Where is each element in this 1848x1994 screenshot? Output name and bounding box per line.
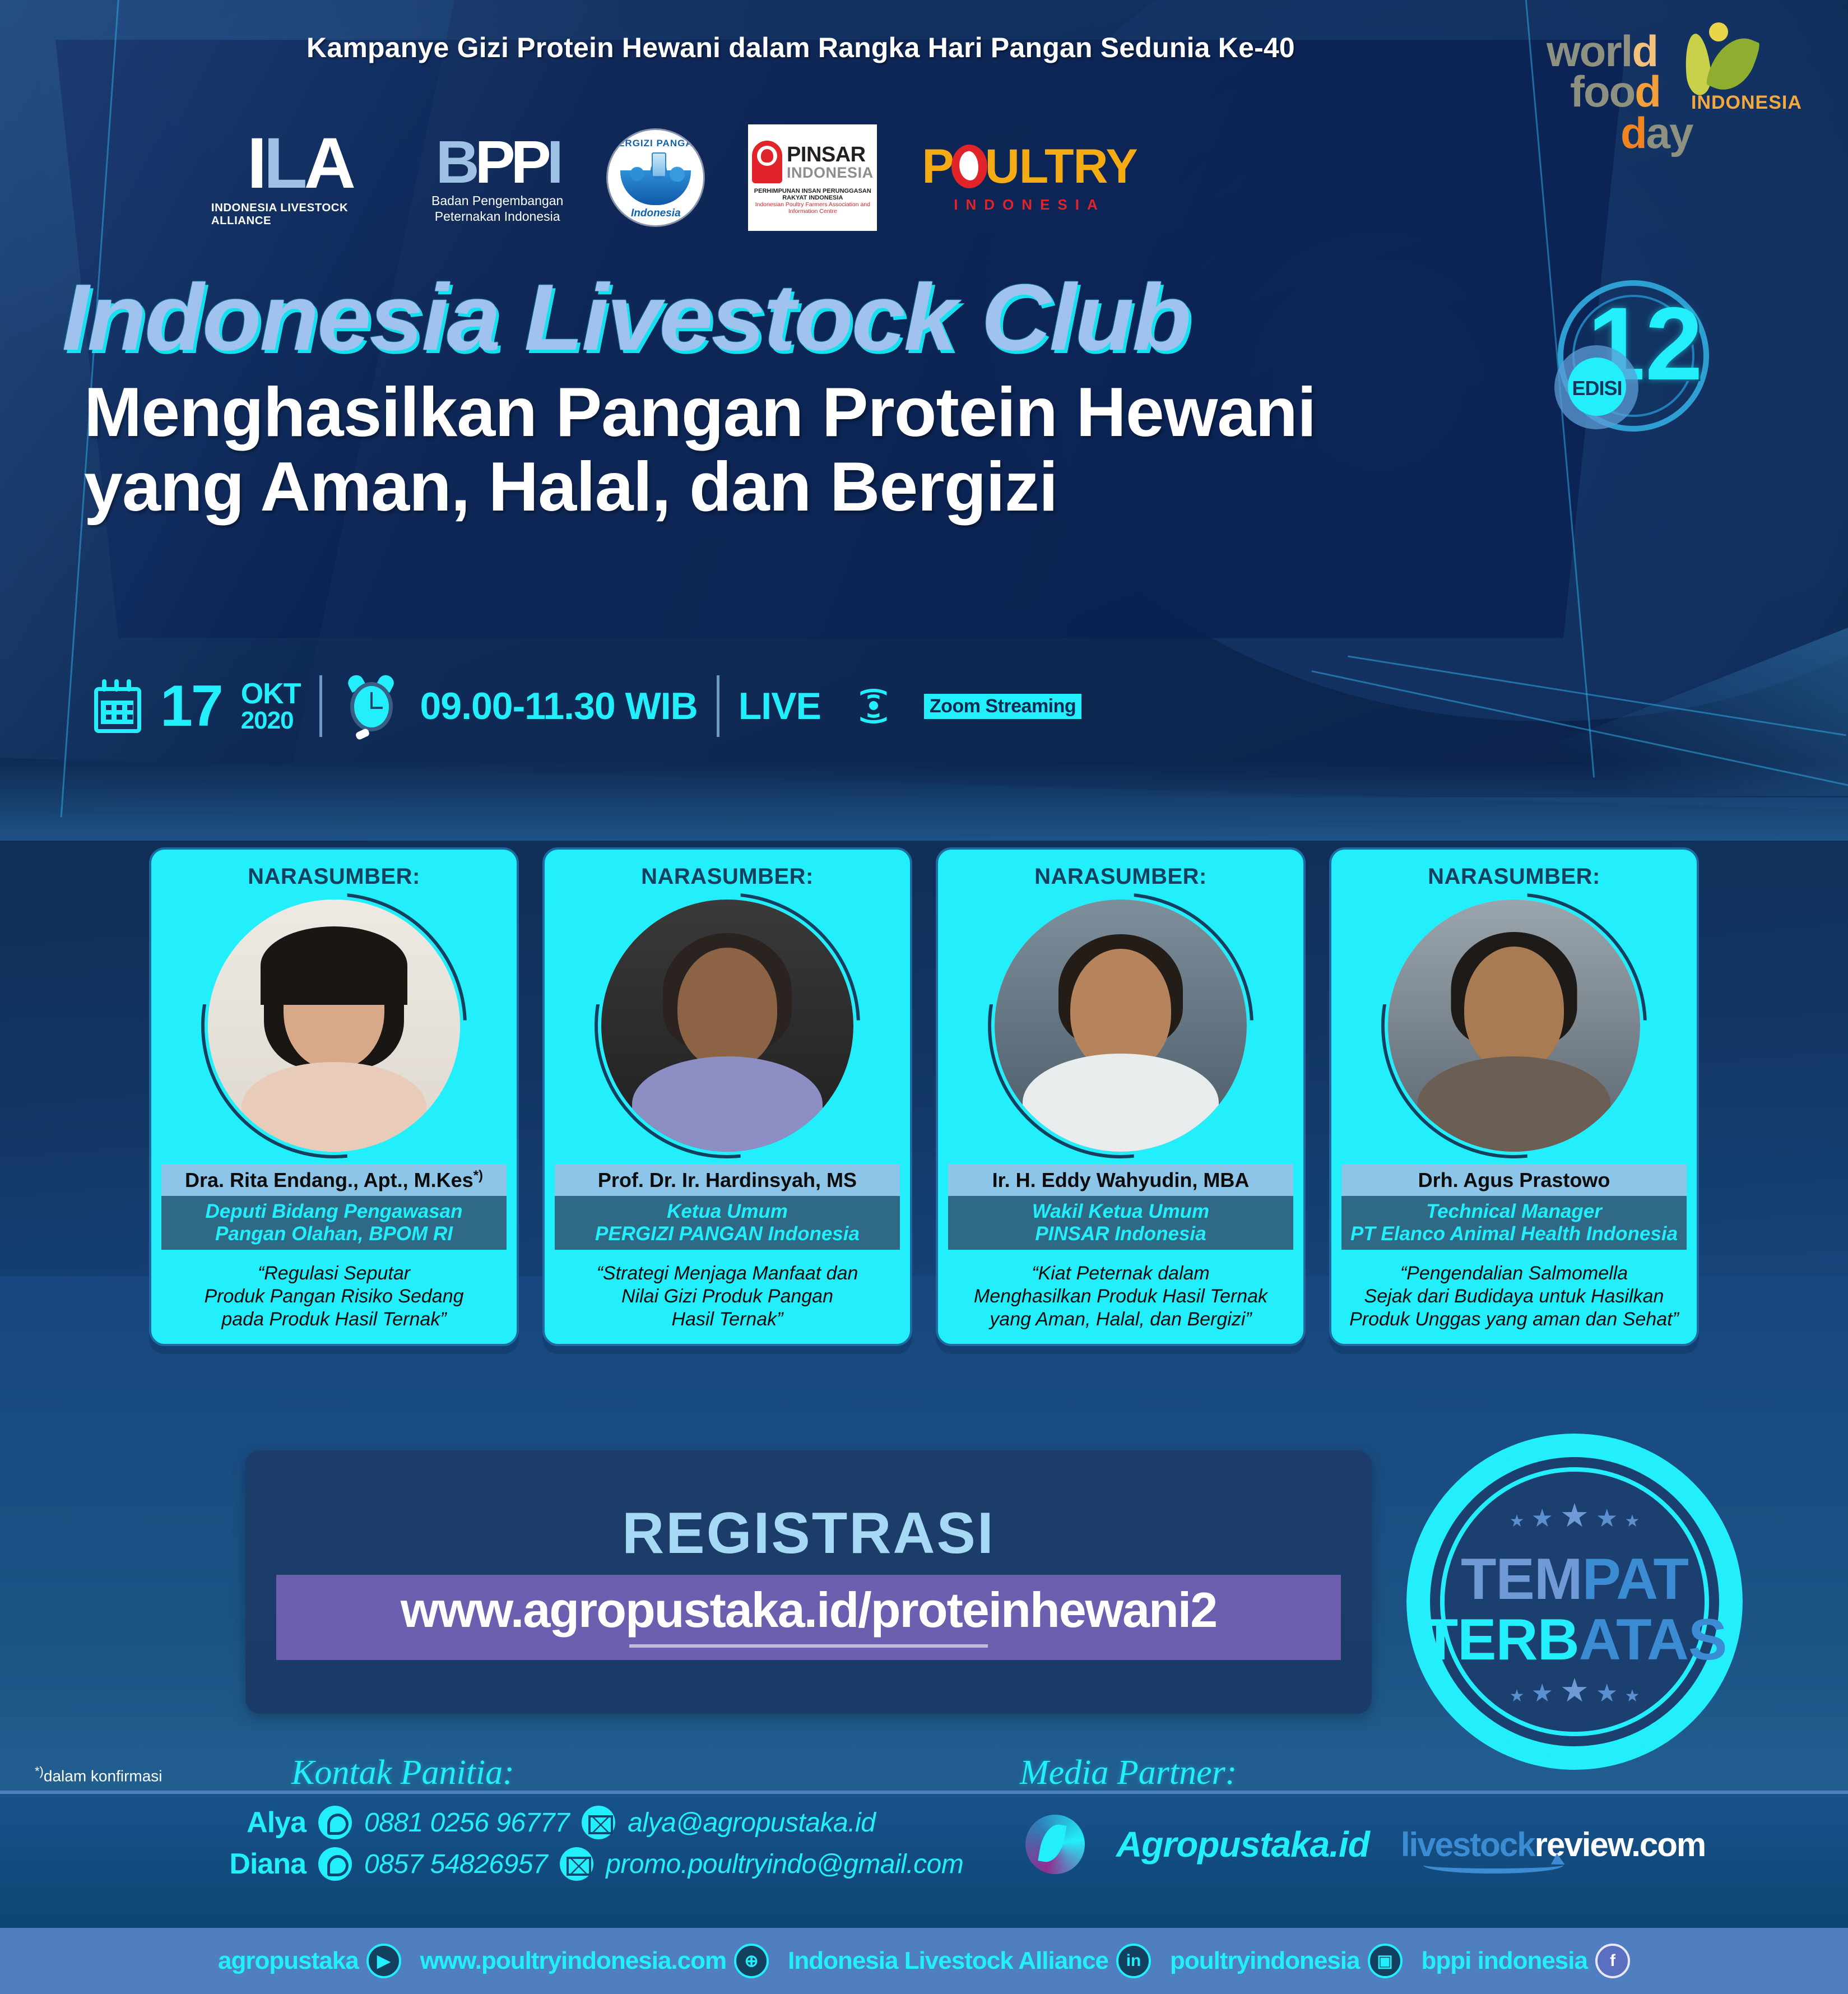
speaker-section-label: NARASUMBER:	[1428, 864, 1600, 889]
speaker-name-text: Dra. Rita Endang., Apt., M.Kes	[185, 1168, 473, 1191]
poultry-chicken-icon	[951, 145, 987, 188]
speaker-role-line1: Deputi Bidang Pengawasan	[165, 1200, 503, 1223]
pinsar-row: PINSAR INDONESIA	[752, 141, 874, 183]
poultry-letters-rest: ULTRY	[985, 142, 1137, 191]
footnote: *)dalam konfirmasi	[35, 1764, 162, 1785]
speaker-topic-line2: Menghasilkan Produk Hasil Ternak	[974, 1285, 1267, 1308]
contact-heading: Kontak Panitia:	[291, 1753, 514, 1793]
footnote-asterisk: *)	[35, 1764, 44, 1778]
wfd-country-label: INDONESIA	[1691, 92, 1802, 114]
speaker-topic-line2: Produk Pangan Risiko Sedang	[204, 1285, 463, 1308]
ila-mark: ILA	[247, 128, 352, 200]
speaker-topic-line2: Sejak dari Budidaya untuk Hasilkan	[1349, 1285, 1679, 1308]
speaker-card-list: NARASUMBER: Dra. Rita Endang., Apt., M.K…	[0, 847, 1848, 1346]
poultry-subtitle: INDONESIA	[954, 196, 1105, 214]
email-icon[interactable]	[560, 1847, 593, 1881]
speaker-topic-line1: “Pengendalian Salmomella	[1349, 1262, 1679, 1285]
avatar	[208, 899, 460, 1152]
partner-logo-strip: ILA INDONESIA LIVESTOCK ALLIANCE BPPI Ba…	[213, 124, 1137, 231]
pergizi-rim-bottom: Indonesia	[608, 207, 703, 220]
media-partner-heading: Media Partner:	[1020, 1753, 1237, 1793]
speaker-topic-line3: pada Produk Hasil Ternak”	[204, 1308, 463, 1331]
social-item-poultryindonesia-web[interactable]: www.poultryindonesia.com ⊕	[420, 1944, 769, 1978]
badge-line1-part2: PAT	[1582, 1547, 1688, 1612]
bppi-subtitle-line2: Peternakan Indonesia	[435, 209, 560, 224]
footnote-text: dalam konfirmasi	[44, 1767, 162, 1784]
media-partner-logos: Agropustaka.id livestockreview.com	[1025, 1815, 1705, 1874]
speaker-topic: “Regulasi Seputar Produk Pangan Risiko S…	[201, 1262, 467, 1330]
speaker-card[interactable]: NARASUMBER: Dra. Rita Endang., Apt., M.K…	[149, 847, 519, 1346]
badge-line2-part2: ATAS	[1579, 1607, 1727, 1672]
speaker-role-line1: Wakil Ketua Umum	[951, 1200, 1290, 1223]
bppi-subtitle-line1: Badan Pengembangan	[431, 193, 563, 208]
pinsar-tagline-id: PERHIMPUNAN INSAN PERUNGGASAN RAKYAT IND…	[753, 188, 872, 201]
social-item-poultryindonesia-ig[interactable]: poultryindonesia ▣	[1170, 1944, 1402, 1978]
event-year: 2020	[241, 708, 301, 733]
speaker-section-label: NARASUMBER:	[641, 864, 814, 889]
speaker-role-line2: Pangan Olahan, BPOM RI	[165, 1223, 503, 1245]
broadcast-icon	[840, 689, 905, 724]
speaker-role-line2: PINSAR Indonesia	[951, 1223, 1290, 1245]
event-month-year: OKT 2020	[241, 679, 301, 733]
pergizi-seal: PERGIZI PANGAN Indonesia	[608, 130, 703, 225]
background-wave	[0, 762, 1848, 841]
world-food-day-logo: world food day INDONESIA	[1535, 13, 1787, 198]
event-details-bar: 17 OKT 2020 09.00-11.30 WIB LIVE Zoom St…	[94, 675, 1081, 737]
contact-email: promo.poultryindo@gmail.com	[606, 1849, 963, 1880]
bppi-mark: BPPI	[436, 132, 559, 192]
speaker-role: Wakil Ketua Umum PINSAR Indonesia	[948, 1196, 1293, 1250]
badge-line1-part1: TEM	[1461, 1547, 1582, 1612]
speaker-name: Drh. Agus Prastowo	[1341, 1164, 1687, 1196]
social-label: agropustaka	[218, 1947, 359, 1975]
speaker-topic: “Pengendalian Salmomella Sejak dari Budi…	[1346, 1262, 1682, 1330]
speaker-role-line2: PERGIZI PANGAN Indonesia	[558, 1223, 897, 1245]
contact-phone: 0881 0256 96777	[364, 1807, 569, 1838]
speaker-role: Deputi Bidang Pengawasan Pangan Olahan, …	[161, 1196, 507, 1250]
ila-subtitle: INDONESIA LIVESTOCK ALLIANCE	[211, 202, 388, 228]
pinsar-name-a: PINSAR	[787, 143, 866, 166]
speaker-card[interactable]: NARASUMBER: Drh. Agus Prastowo Technical…	[1329, 847, 1699, 1346]
email-icon[interactable]	[582, 1806, 615, 1839]
speaker-topic-line1: “Regulasi Seputar	[204, 1262, 463, 1285]
speaker-role: Ketua Umum PERGIZI PANGAN Indonesia	[555, 1196, 900, 1250]
agropustaka-wordmark: Agropustaka.id	[1116, 1824, 1369, 1865]
page-title: Indonesia Livestock Club	[62, 263, 1190, 372]
speaker-role-line1: Technical Manager	[1345, 1200, 1683, 1223]
speaker-role: Technical Manager PT Elanco Animal Healt…	[1341, 1196, 1687, 1250]
leaf-yellow-icon	[1683, 33, 1712, 96]
speaker-topic-line1: “Strategi Menjaga Manfaat dan	[597, 1262, 858, 1285]
speaker-role-line2: PT Elanco Animal Health Indonesia	[1345, 1223, 1683, 1245]
registration-underline	[629, 1644, 988, 1648]
speaker-role-line1: Ketua Umum	[558, 1200, 897, 1223]
pergizi-glass-icon	[652, 152, 666, 177]
badge-line-1: TEMPAT	[1406, 1550, 1743, 1608]
instagram-icon[interactable]: ▣	[1368, 1944, 1403, 1978]
badge-line2-part1: TERB	[1423, 1607, 1579, 1672]
speaker-name-text: Ir. H. Eddy Wahyudin, MBA	[992, 1168, 1250, 1191]
speaker-topic-line3: Hasil Ternak”	[597, 1308, 858, 1331]
event-day: 17	[160, 677, 222, 735]
avatar	[995, 899, 1247, 1152]
social-label: www.poultryindonesia.com	[420, 1947, 726, 1975]
linkedin-icon[interactable]: in	[1116, 1944, 1151, 1978]
badge-line-2: TERBATAS	[1406, 1611, 1743, 1669]
event-month: OKT	[241, 679, 301, 708]
livestockreview-logo: livestockreview.com	[1401, 1825, 1705, 1864]
poultry-letter-p: P	[922, 142, 953, 191]
registration-panel: REGISTRASI www.agropustaka.id/proteinhew…	[245, 1450, 1372, 1714]
speaker-topic-line1: “Kiat Peternak dalam	[974, 1262, 1267, 1285]
live-label: LIVE	[739, 684, 821, 728]
event-subtitle: Menghasilkan Pangan Protein Hewani yang …	[84, 375, 1597, 524]
wfd-word-day: day	[1621, 115, 1692, 151]
speaker-name: Dra. Rita Endang., Apt., M.Kes*)	[161, 1164, 507, 1196]
platform-badge: Zoom Streaming	[924, 694, 1081, 719]
speaker-name-text: Prof. Dr. Ir. Hardinsyah, MS	[598, 1168, 857, 1191]
swoosh-arrow-icon	[1423, 1857, 1563, 1874]
wfd-word-food: food	[1570, 74, 1660, 110]
speaker-topic-line3: yang Aman, Halal, dan Bergizi”	[974, 1308, 1267, 1331]
speaker-topic-line3: Produk Unggas yang aman dan Sehat”	[1349, 1308, 1679, 1331]
calendar-icon	[94, 679, 141, 733]
contact-row: Diana 0857 54826957 promo.poultryindo@gm…	[202, 1847, 963, 1881]
poultry-wordmark: P ULTRY	[922, 142, 1137, 191]
divider-2	[717, 675, 719, 737]
event-time: 09.00-11.30 WIB	[420, 684, 697, 728]
whatsapp-icon[interactable]	[318, 1806, 352, 1839]
speaker-topic-line2: Nilai Gizi Produk Pangan	[597, 1285, 858, 1308]
pergizi-rim-top: PERGIZI PANGAN	[608, 138, 703, 149]
registration-url-box[interactable]: www.agropustaka.id/proteinhewani2	[276, 1575, 1341, 1660]
pinsar-card: PINSAR INDONESIA PERHIMPUNAN INSAN PERUN…	[748, 124, 877, 231]
whatsapp-icon[interactable]	[318, 1847, 352, 1881]
social-item-agropustaka[interactable]: agropustaka ▶	[218, 1944, 401, 1978]
divider-1	[319, 675, 322, 737]
social-links-bar: agropustaka ▶ www.poultryindonesia.com ⊕…	[0, 1928, 1848, 1994]
pinsar-wordmark: PINSAR INDONESIA	[787, 144, 874, 180]
speaker-topic: “Strategi Menjaga Manfaat dan Nilai Gizi…	[593, 1262, 862, 1330]
social-label: poultryindonesia	[1170, 1947, 1359, 1975]
facebook-icon[interactable]: f	[1595, 1944, 1630, 1978]
wfd-word-world: world	[1547, 34, 1657, 69]
speaker-topic: “Kiat Peternak dalam Menghasilkan Produk…	[971, 1262, 1271, 1330]
logo-poultry-indonesia: P ULTRY INDONESIA	[922, 142, 1137, 214]
globe-icon[interactable]: ⊕	[734, 1944, 769, 1978]
contact-name: Diana	[202, 1847, 306, 1881]
social-label: Indonesia Livestock Alliance	[788, 1947, 1108, 1975]
speaker-name-asterisk: *)	[473, 1168, 483, 1183]
contact-phone: 0857 54826957	[364, 1849, 547, 1880]
logo-ila: ILA INDONESIA LIVESTOCK ALLIANCE	[213, 128, 387, 228]
pinsar-chicken-icon	[752, 141, 782, 183]
contact-email: alya@agropustaka.id	[628, 1807, 875, 1838]
speaker-card[interactable]: NARASUMBER: Ir. H. Eddy Wahyudin, MBA Wa…	[936, 847, 1306, 1346]
pinsar-tagline-en: Indonesian Poultry Farmers Association a…	[753, 201, 872, 215]
social-item-ila-linkedin[interactable]: Indonesia Livestock Alliance in	[788, 1944, 1151, 1978]
contact-name: Alya	[202, 1806, 306, 1839]
contact-list: Alya 0881 0256 96777 alya@agropustaka.id…	[202, 1806, 963, 1889]
social-item-bppi-facebook[interactable]: bppi indonesia f	[1422, 1944, 1630, 1978]
badge-stars-bottom: ★★★★★	[1406, 1671, 1743, 1709]
logo-bppi: BPPI Badan Pengembangan Peternakan Indon…	[431, 132, 563, 224]
logo-pinsar: PINSAR INDONESIA PERHIMPUNAN INSAN PERUN…	[748, 124, 877, 231]
agropustaka-icon	[1025, 1815, 1085, 1874]
social-label: bppi indonesia	[1422, 1947, 1587, 1975]
badge-stars-top: ★★★★★	[1406, 1496, 1743, 1534]
alarm-clock-icon	[341, 675, 401, 737]
speaker-name-text: Drh. Agus Prastowo	[1418, 1168, 1610, 1191]
leaf-dot-icon	[1709, 22, 1728, 41]
registration-title: REGISTRASI	[622, 1504, 995, 1562]
speaker-card[interactable]: NARASUMBER: Prof. Dr. Ir. Hardinsyah, MS…	[542, 847, 912, 1346]
speaker-section-label: NARASUMBER:	[248, 864, 420, 889]
speaker-name: Ir. H. Eddy Wahyudin, MBA	[948, 1164, 1293, 1196]
avatar	[1388, 899, 1640, 1152]
speaker-section-label: NARASUMBER:	[1034, 864, 1207, 889]
subtitle-line-1: Menghasilkan Pangan Protein Hewani	[84, 375, 1597, 450]
contact-row: Alya 0881 0256 96777 alya@agropustaka.id	[202, 1806, 963, 1839]
pinsar-name-b: INDONESIA	[787, 165, 874, 180]
youtube-icon[interactable]: ▶	[366, 1944, 401, 1978]
limited-seats-badge: ★★★★★ TEMPAT TERBATAS ★★★★★	[1406, 1434, 1743, 1770]
subtitle-line-2: yang Aman, Halal, dan Bergizi	[84, 450, 1597, 525]
registration-url-link[interactable]: www.agropustaka.id/proteinhewani2	[401, 1582, 1216, 1639]
speaker-name: Prof. Dr. Ir. Hardinsyah, MS	[555, 1164, 900, 1196]
logo-pergizi-pangan: PERGIZI PANGAN Indonesia	[608, 130, 703, 225]
avatar	[601, 899, 853, 1152]
